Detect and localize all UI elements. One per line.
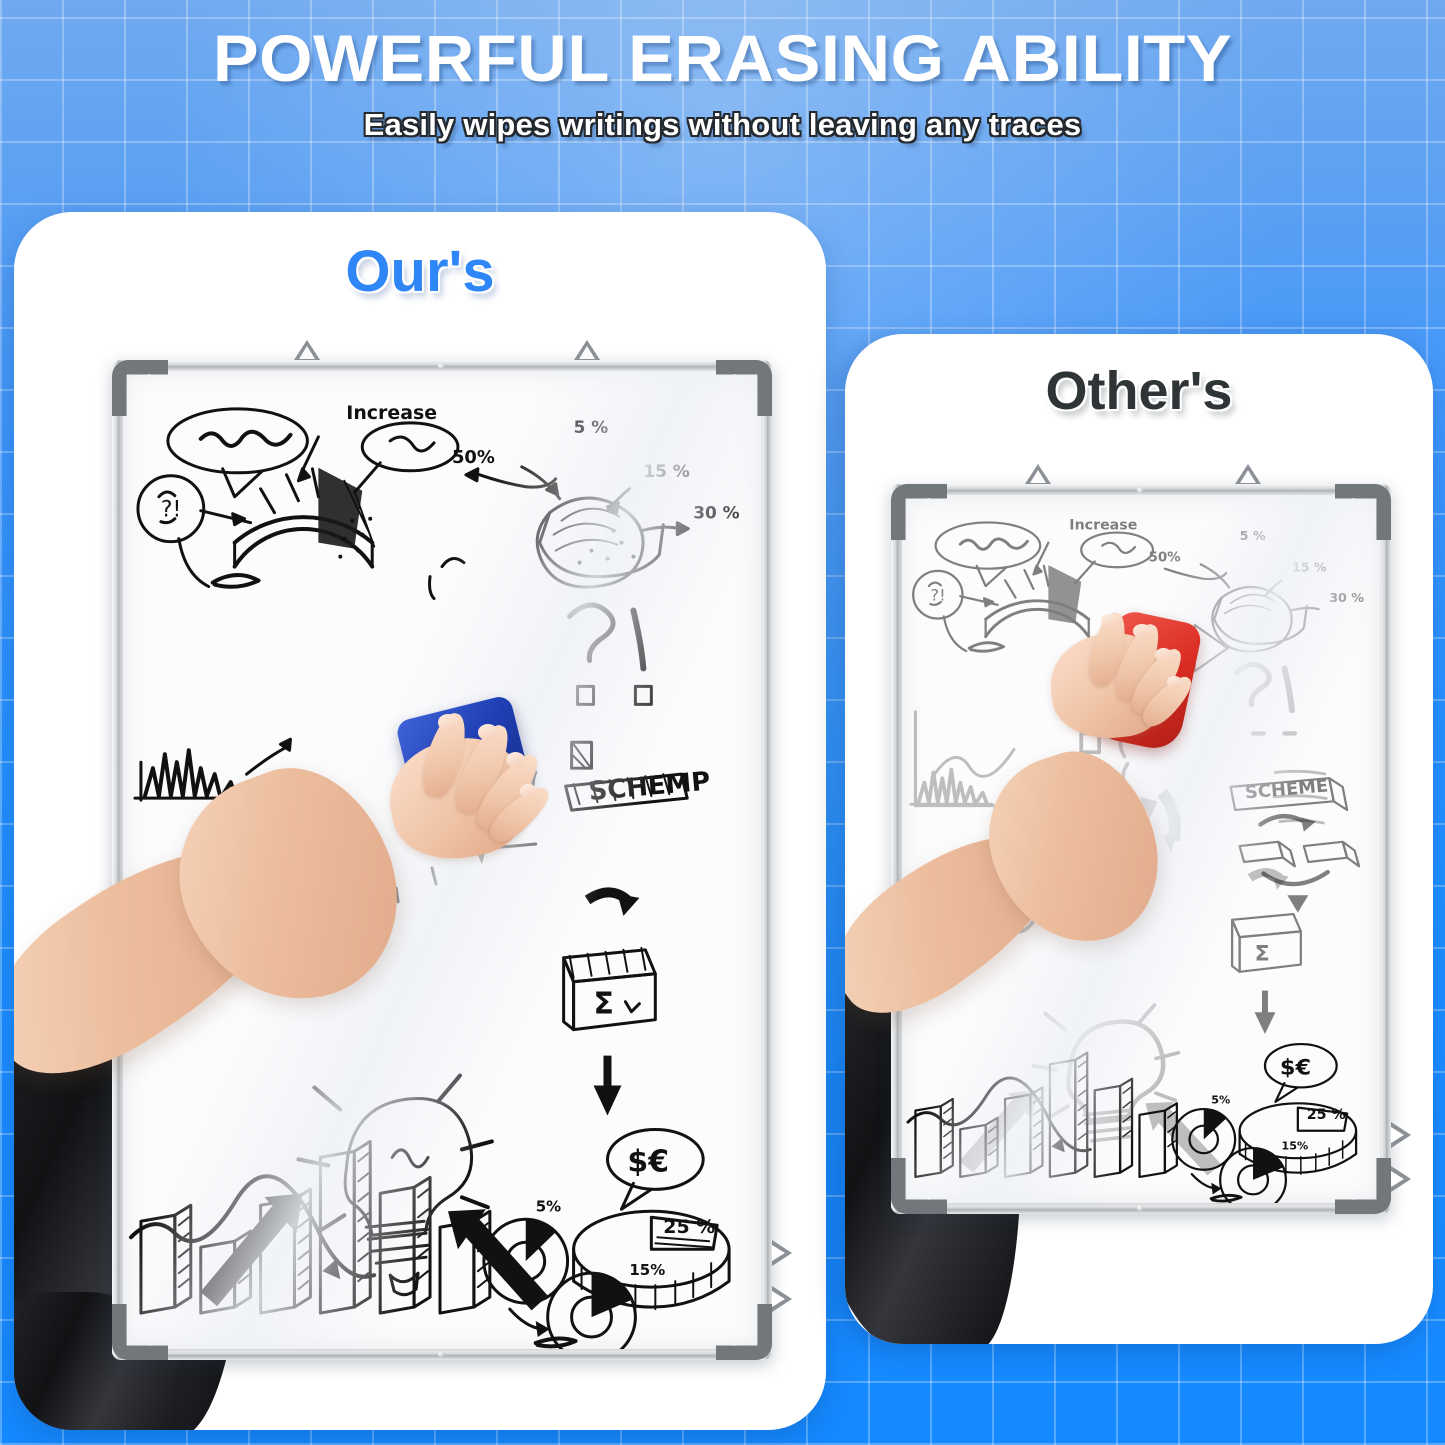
hanger-top-left-icon [294,340,320,360]
panel-label-ours: Our's [14,238,826,305]
frame-rail-left [112,360,123,1360]
panel-label-others: Other's [845,360,1433,422]
hanger-side-lower-icon [1391,1166,1411,1192]
promo-image: POWERFUL ERASING ABILITY Easily wipes wr… [0,0,1445,1445]
fingernail-others [1155,648,1172,661]
fingernail-others [1167,676,1182,688]
hanger-side-upper-icon [1391,1122,1411,1148]
hanger-top-right-icon [1235,464,1261,484]
frame-screw [438,1351,444,1357]
fingernail-others [1101,614,1119,628]
frame-screw [438,363,444,369]
frame-rail-right [761,360,772,1360]
hanger-top-left-icon [1025,464,1051,484]
page-subtitle: Easily wipes writings without leaving an… [0,107,1445,143]
fingernail-others [1133,624,1151,638]
hanger-top-right-icon [574,340,600,360]
fingernail-ours [520,784,537,798]
header: POWERFUL ERASING ABILITY Easily wipes wr… [0,0,1445,143]
panel-ours: ?! [14,212,826,1430]
frame-rail-left [891,484,902,1214]
hanger-side-lower-icon [772,1286,792,1312]
hanger-side-upper-icon [772,1240,792,1266]
page-title: POWERFUL ERASING ABILITY [0,24,1445,93]
fingernail-ours [438,714,458,730]
fingernail-ours [506,752,525,767]
fingernail-ours [478,724,498,740]
frame-screw [1137,1205,1143,1211]
panel-others: ?! [845,334,1433,1344]
frame-screw [1137,487,1143,493]
frame-rail-right [1380,484,1391,1214]
